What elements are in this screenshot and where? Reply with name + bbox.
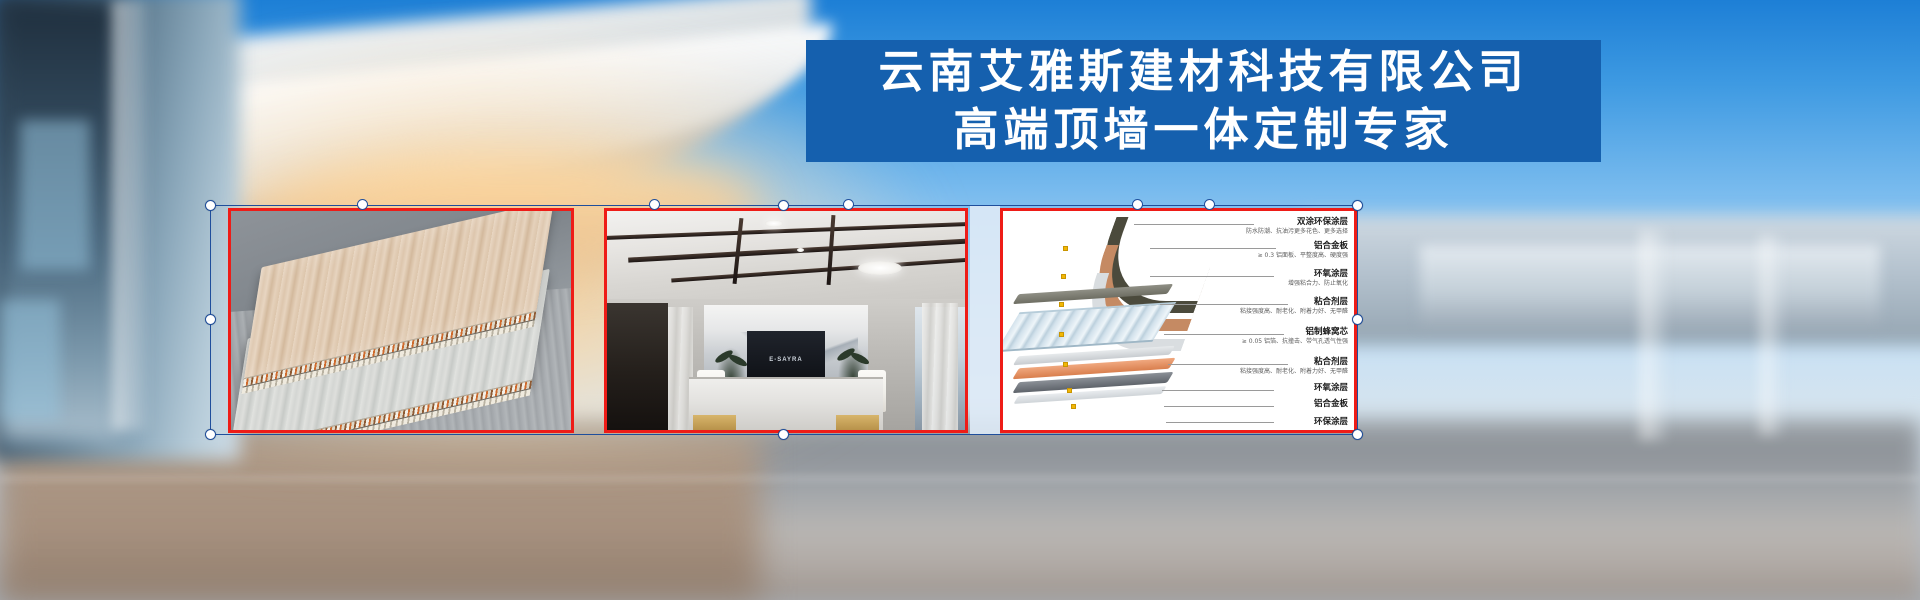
desk-gold-trim-right [836,415,879,430]
callout-2: 环氧涂层 增强粘合力、防止氧化 [1288,269,1348,288]
banner-canvas: 云南艾雅斯建材科技有限公司 高端顶墙一体定制专家 [0,0,1920,600]
callout-4: 铝制蜂窝芯 ≥ 0.05 铝箔、抗撞击、带气孔透气性强 [1242,327,1348,346]
callout-1: 铝合金板 ≥ 0.3 铝面板、平整度高、硬度强 [1258,241,1348,260]
interior-scene: E-SAYRA [607,211,965,430]
glass-pane [0,300,60,420]
curtain-right [922,303,958,430]
product-tile-interior-render[interactable]: E-SAYRA [604,208,968,433]
leader-dot-5 [1063,362,1068,367]
callout-8: 环保涂层 [1314,417,1348,428]
leader-dot-3 [1059,302,1064,307]
company-name-line: 云南艾雅斯建材科技有限公司 [878,44,1528,100]
leader-line-2 [1150,276,1274,277]
tile-2-top-handle-left[interactable] [649,199,660,210]
leader-dot-6 [1067,388,1072,393]
callout-title: 环氧涂层 [1288,269,1348,279]
leader-line-1 [1150,248,1276,249]
leader-line-7 [1164,406,1274,407]
leader-line-6 [1162,390,1274,391]
dark-cabinet-left [607,303,668,430]
callout-title: 铝合金板 [1314,399,1348,409]
facade-pillar [112,0,146,430]
tile-3-top-handle[interactable] [1204,199,1215,210]
layer-diagram-canvas: 双涂环保涂层 防水防潮、抗油污更多花色、更多选择 铝合金板 ≥ 0.3 铝面板、… [1003,211,1354,430]
callout-5: 粘合剂层 粘接强度高、耐老化、附着力好、无甲醛 [1240,357,1348,376]
leader-line-4 [1164,334,1284,335]
leader-line-0 [1134,224,1254,225]
callout-sub: 防水防潮、抗油污更多花色、更多选择 [1246,228,1348,236]
callout-6: 环氧涂层 [1314,383,1348,394]
tile-gap-strip [970,206,1000,435]
facade-pillar [1760,235,1782,435]
callout-0: 双涂环保涂层 防水防潮、抗油污更多花色、更多选择 [1246,217,1348,236]
product-tile-honeycomb-panel[interactable] [228,208,574,433]
callout-title: 双涂环保涂层 [1246,217,1348,227]
leader-dot-1 [1063,246,1068,251]
glass-pane [20,120,90,270]
ground-horizon-line [0,477,1920,480]
leader-dot-2 [1061,274,1066,279]
leader-line-3 [1160,304,1288,305]
leader-line-8 [1166,422,1274,423]
callout-title: 粘合剂层 [1240,357,1348,367]
desk-gold-trim-left [693,415,736,430]
callout-sub: 增强粘合力、防止氧化 [1288,280,1348,288]
facade-pillar [1640,230,1666,440]
callout-title: 铝制蜂窝芯 [1242,327,1348,337]
tile-1-top-handle[interactable] [357,199,368,210]
leader-line-5 [1168,364,1288,365]
callout-sub: ≥ 0.3 铝面板、平整度高、硬度强 [1258,252,1348,260]
leader-dot-4 [1059,332,1064,337]
tile-2-top-handle[interactable] [843,199,854,210]
leader-dot-7 [1071,404,1076,409]
callout-sub: 粘接强度高、耐老化、附着力好、无甲醛 [1240,308,1348,316]
company-slogan-line: 高端顶墙一体定制专家 [953,102,1453,158]
tile-3-top-handle-left[interactable] [1132,199,1143,210]
callout-sub: ≥ 0.05 铝箔、抗撞击、带气孔透气性强 [1242,338,1348,346]
callout-sub: 粘接强度高、耐老化、附着力好、无甲醛 [1240,368,1348,376]
ceiling-downlight [765,220,783,227]
callout-title: 环保涂层 [1314,417,1348,427]
reception-sign-text: E-SAYRA [769,357,802,363]
callout-7: 铝合金板 [1314,399,1348,410]
callout-title: 环氧涂层 [1314,383,1348,393]
callout-title: 铝合金板 [1258,241,1348,251]
product-tile-layer-diagram[interactable]: 双涂环保涂层 防水防潮、抗油污更多花色、更多选择 铝合金板 ≥ 0.3 铝面板、… [1000,208,1357,433]
company-title-banner: 云南艾雅斯建材科技有限公司 高端顶墙一体定制专家 [806,40,1601,162]
callout-title: 粘合剂层 [1240,297,1348,307]
callout-3: 粘合剂层 粘接强度高、耐老化、附着力好、无甲醛 [1240,297,1348,316]
